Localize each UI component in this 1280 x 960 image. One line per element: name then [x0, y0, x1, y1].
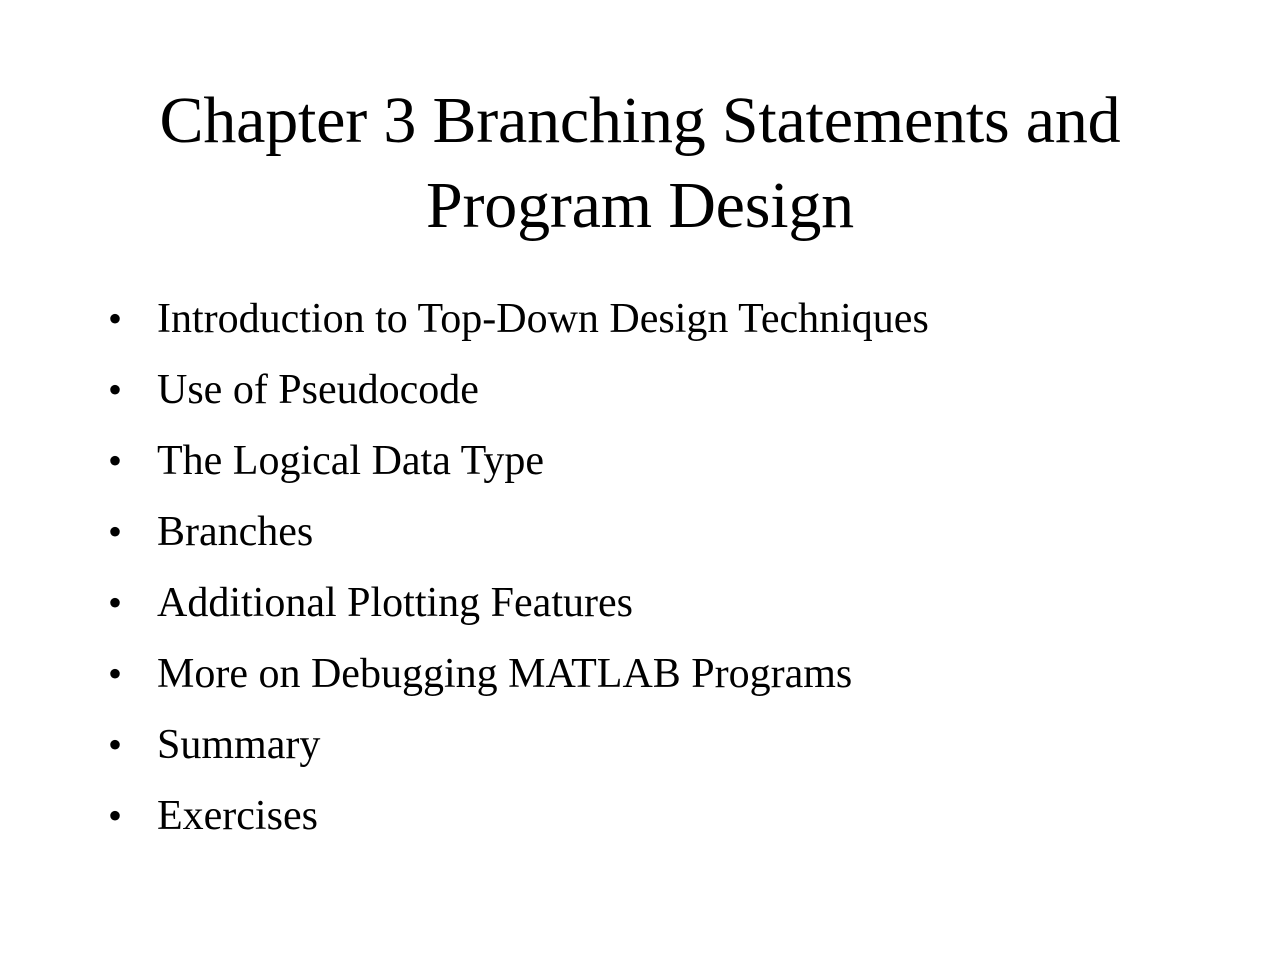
bullet-point-icon: •: [108, 425, 157, 496]
bullet-item-label: The Logical Data Type: [157, 426, 544, 497]
slide-bullet-list: • Introduction to Top-Down Design Techni…: [108, 283, 1218, 851]
bullet-item-label: Introduction to Top-Down Design Techniqu…: [157, 284, 929, 355]
list-item: • More on Debugging MATLAB Programs: [108, 638, 1218, 709]
bullet-point-icon: •: [108, 496, 157, 567]
bullet-point-icon: •: [108, 709, 157, 780]
presentation-slide: Chapter 3 Branching Statements and Progr…: [0, 0, 1280, 960]
list-item: • The Logical Data Type: [108, 425, 1218, 496]
bullet-point-icon: •: [108, 354, 157, 425]
list-item: • Branches: [108, 496, 1218, 567]
page-title: Chapter 3 Branching Statements and Progr…: [60, 78, 1220, 248]
bullet-item-label: Use of Pseudocode: [157, 355, 479, 426]
bullet-point-icon: •: [108, 780, 157, 851]
list-item: • Exercises: [108, 780, 1218, 851]
page-title-line-2: Program Design: [60, 163, 1220, 248]
bullet-item-label: Additional Plotting Features: [157, 568, 633, 639]
list-item: • Summary: [108, 709, 1218, 780]
bullet-item-label: More on Debugging MATLAB Programs: [157, 639, 852, 710]
bullet-point-icon: •: [108, 567, 157, 638]
page-title-line-1: Chapter 3 Branching Statements and: [60, 78, 1220, 163]
bullet-point-icon: •: [108, 283, 157, 354]
bullet-item-label: Summary: [157, 710, 320, 781]
bullet-item-label: Branches: [157, 497, 313, 568]
bullet-point-icon: •: [108, 638, 157, 709]
list-item: • Use of Pseudocode: [108, 354, 1218, 425]
bullet-item-label: Exercises: [157, 781, 318, 852]
list-item: • Introduction to Top-Down Design Techni…: [108, 283, 1218, 354]
list-item: • Additional Plotting Features: [108, 567, 1218, 638]
